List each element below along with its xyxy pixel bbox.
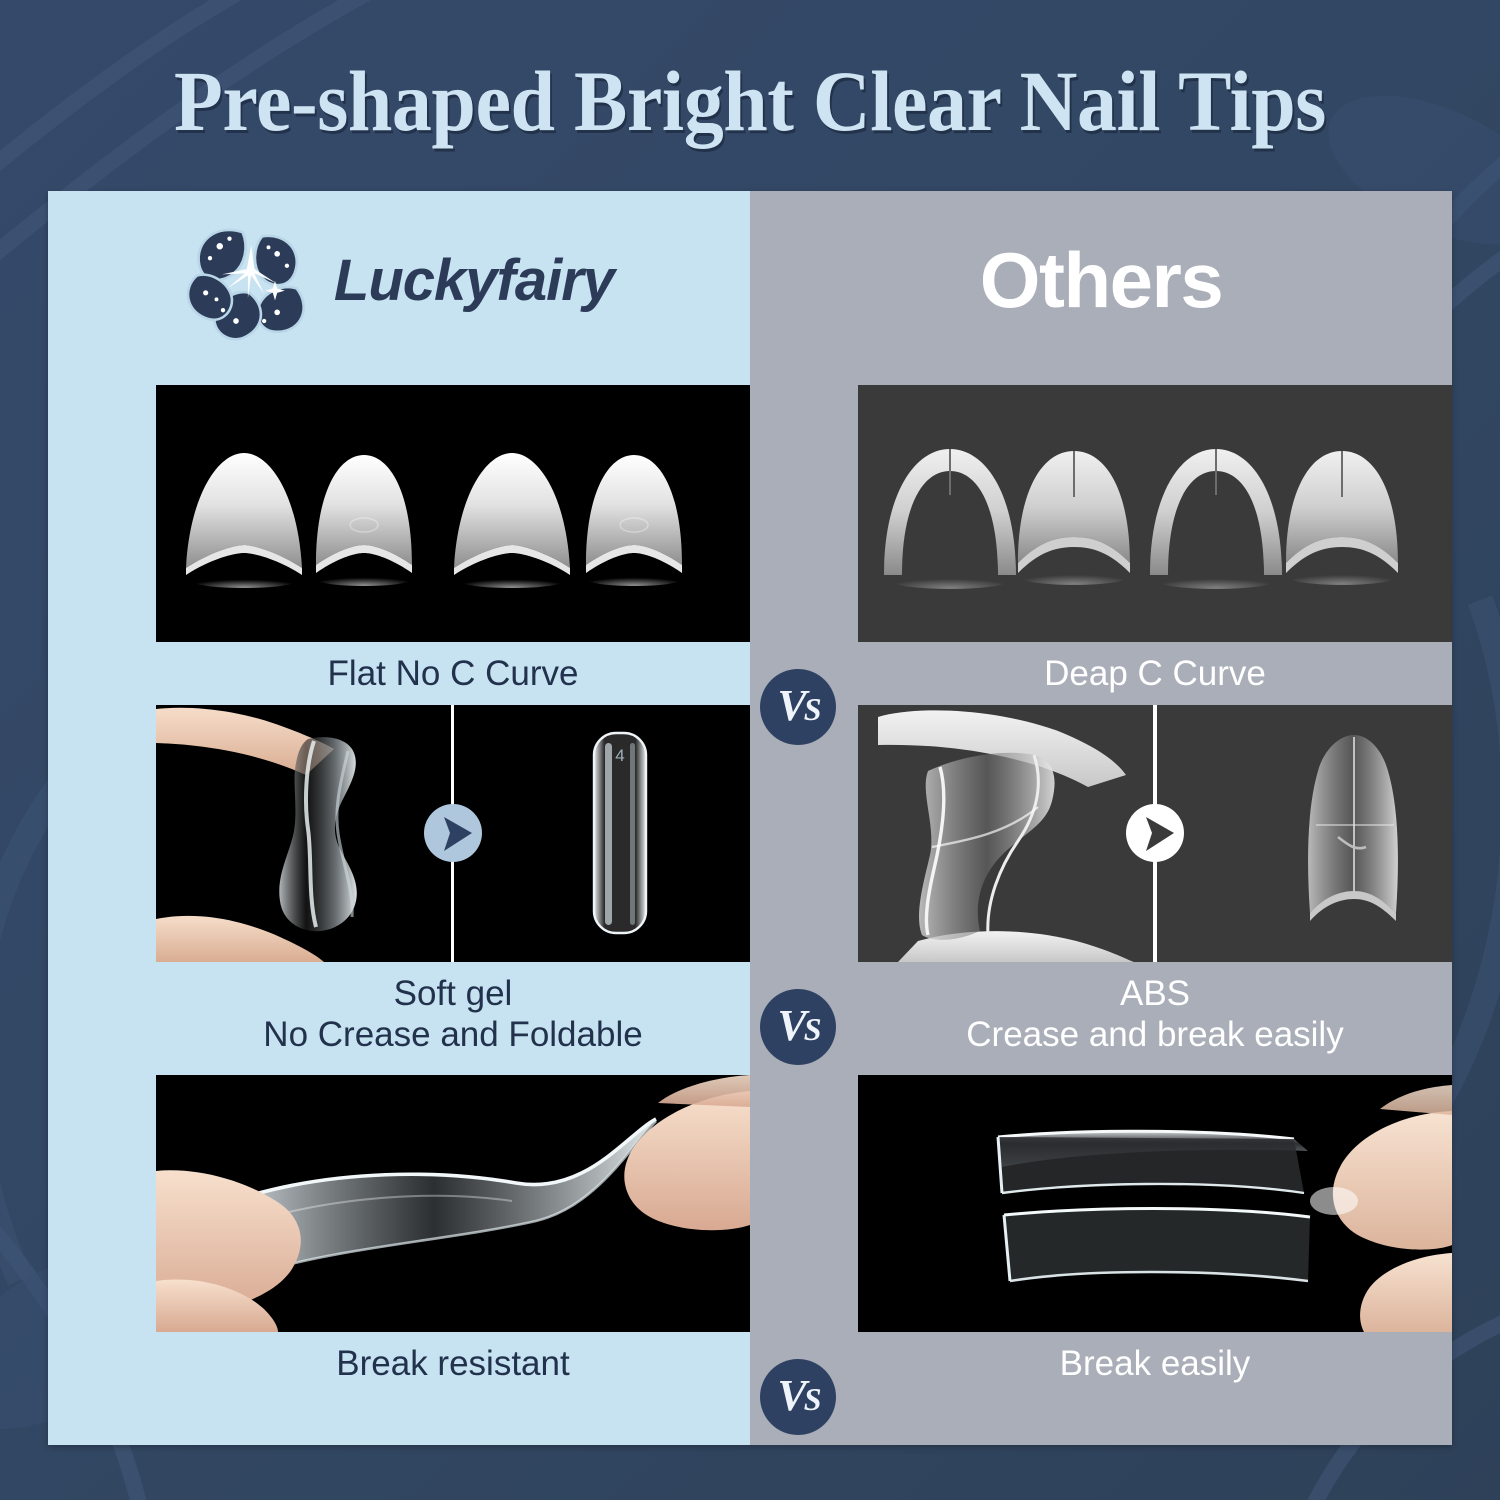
- page-title: Pre-shaped Bright Clear Nail Tips: [53, 56, 1448, 146]
- ours-row-material: 4 Soft gel No Crease and Foldable: [102, 705, 804, 1056]
- theirs-caption-material: ABS Crease and break easily: [858, 962, 1452, 1056]
- theirs-row-c-curve: Deap C Curve: [804, 385, 1500, 694]
- flower-sparkle-logo-icon: [184, 217, 314, 347]
- svg-text:4: 4: [615, 746, 624, 765]
- soft-gel-fold-photo: 4: [156, 705, 750, 962]
- vs-badge-label: VS: [777, 684, 818, 728]
- ours-caption-durability: Break resistant: [156, 1332, 750, 1384]
- deep-c-curve-tips-photo: [858, 385, 1452, 642]
- flat-nail-tips-photo: [156, 385, 750, 642]
- abs-crease-photo: [858, 705, 1452, 962]
- break-easily-photo: [858, 1075, 1452, 1332]
- theirs-row-material: ABS Crease and break easily: [804, 705, 1500, 1056]
- vs-badge-material: VS: [760, 989, 836, 1065]
- ours-row-durability: Break resistant: [102, 1075, 804, 1384]
- brand-column: Luckyfairy: [48, 191, 750, 1445]
- comparison-panel: Luckyfairy: [48, 191, 1452, 1445]
- ours-caption-material: Soft gel No Crease and Foldable: [156, 962, 750, 1056]
- vs-badge-label: VS: [777, 1374, 818, 1418]
- competitor-header: Others: [750, 191, 1452, 369]
- brand-header: Luckyfairy: [48, 191, 750, 369]
- brand-name: Luckyfairy: [334, 247, 614, 314]
- vs-badge-durability: VS: [760, 1359, 836, 1435]
- theirs-row-durability: Break easily: [804, 1075, 1500, 1384]
- competitor-column: Others: [750, 191, 1452, 1445]
- vs-badge-c-curve: VS: [760, 669, 836, 745]
- theirs-caption-c-curve: Deap C Curve: [858, 642, 1452, 694]
- vs-badge-label: VS: [777, 1004, 818, 1048]
- break-resistant-photo: [156, 1075, 750, 1332]
- ours-row-c-curve: Flat No C Curve: [102, 385, 804, 694]
- ours-caption-c-curve: Flat No C Curve: [156, 642, 750, 694]
- theirs-caption-durability: Break easily: [858, 1332, 1452, 1384]
- competitor-title: Others: [980, 235, 1222, 326]
